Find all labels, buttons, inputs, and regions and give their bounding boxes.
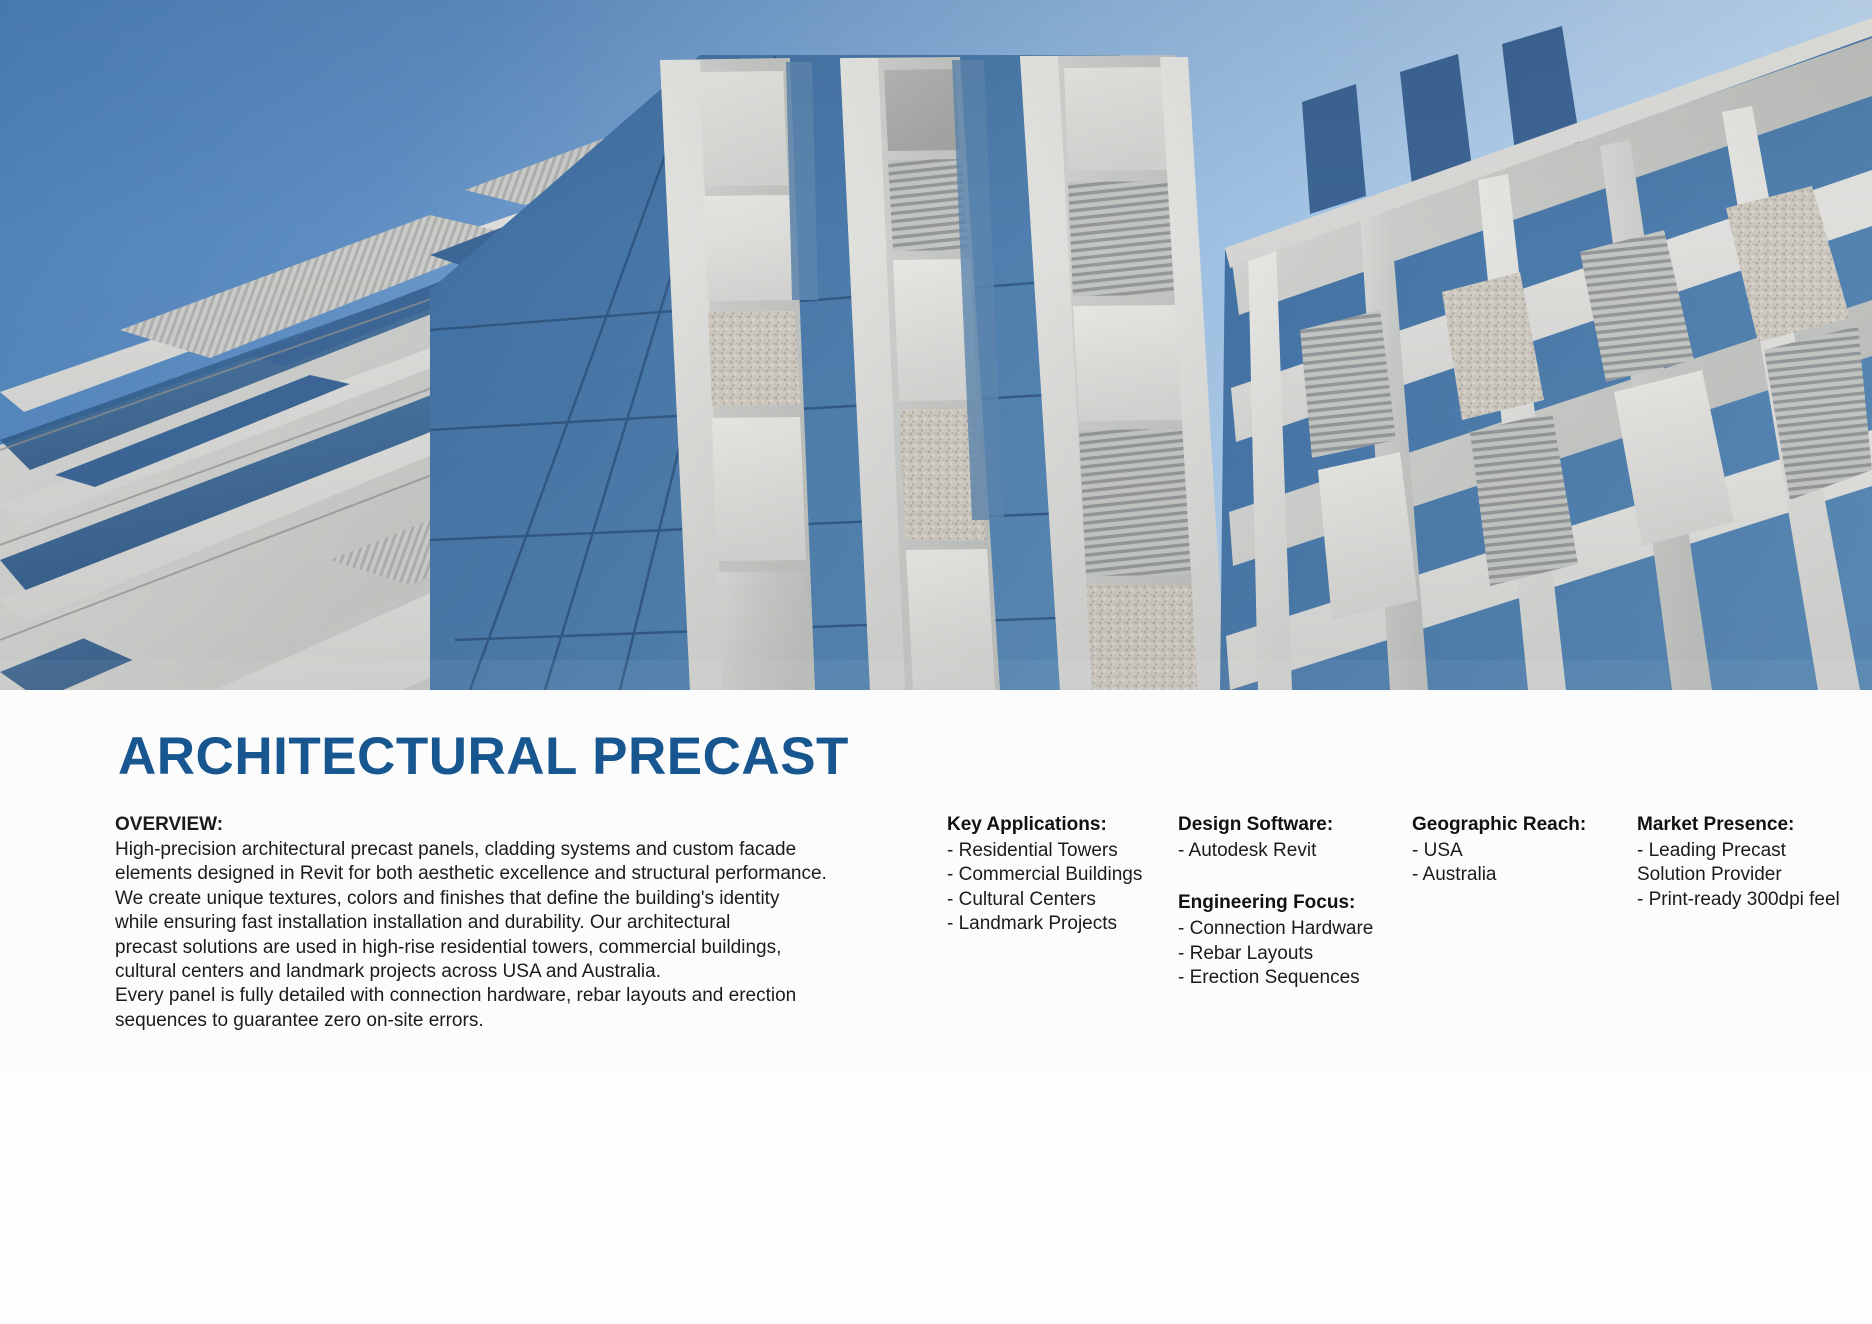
list-item: - Print-ready 300dpi feel	[1637, 888, 1872, 912]
hero-building-photo	[0, 0, 1872, 690]
list-item: - Residential Towers	[947, 839, 1177, 863]
list-item: - Connection Hardware	[1178, 917, 1410, 941]
list-item: - Erection Sequences	[1178, 966, 1410, 990]
column-heading: Market Presence:	[1637, 812, 1872, 837]
spec-columns: Key Applications: - Residential Towers -…	[0, 812, 1872, 1032]
column-list-secondary: - Connection Hardware - Rebar Layouts - …	[1178, 917, 1410, 990]
column-list: - Leading Precast Solution Provider - Pr…	[1637, 839, 1872, 912]
column-key-applications: Key Applications: - Residential Towers -…	[947, 812, 1177, 937]
right-wing	[1220, 18, 1872, 690]
list-item: - Commercial Buildings	[947, 863, 1177, 887]
column-list: - Autodesk Revit	[1178, 839, 1410, 863]
column-market-presence: Market Presence: - Leading Precast Solut…	[1637, 812, 1872, 912]
list-item: - Leading Precast Solution Provider	[1637, 839, 1872, 888]
list-item: - Rebar Layouts	[1178, 942, 1410, 966]
column-list: - USA - Australia	[1412, 839, 1634, 888]
column-design-software: Design Software: - Autodesk Revit Engine…	[1178, 812, 1410, 991]
column-geographic-reach: Geographic Reach: - USA - Australia	[1412, 812, 1634, 888]
column-heading: Design Software:	[1178, 812, 1410, 837]
column-heading: Geographic Reach:	[1412, 812, 1634, 837]
column-list: - Residential Towers - Commercial Buildi…	[947, 839, 1177, 937]
slide-page: ARCHITECTURAL PRECAST OVERVIEW: High-pre…	[0, 0, 1872, 1324]
list-item: - USA	[1412, 839, 1634, 863]
list-item: - Autodesk Revit	[1178, 839, 1410, 863]
column-heading: Key Applications:	[947, 812, 1177, 837]
list-item: - Australia	[1412, 863, 1634, 887]
facade-illustration	[0, 0, 1872, 690]
list-item: - Landmark Projects	[947, 912, 1177, 936]
page-title: ARCHITECTURAL PRECAST	[118, 726, 849, 787]
column-heading-secondary: Engineering Focus:	[1178, 890, 1410, 915]
list-item: - Cultural Centers	[947, 888, 1177, 912]
content-section: ARCHITECTURAL PRECAST OVERVIEW: High-pre…	[0, 690, 1872, 1324]
